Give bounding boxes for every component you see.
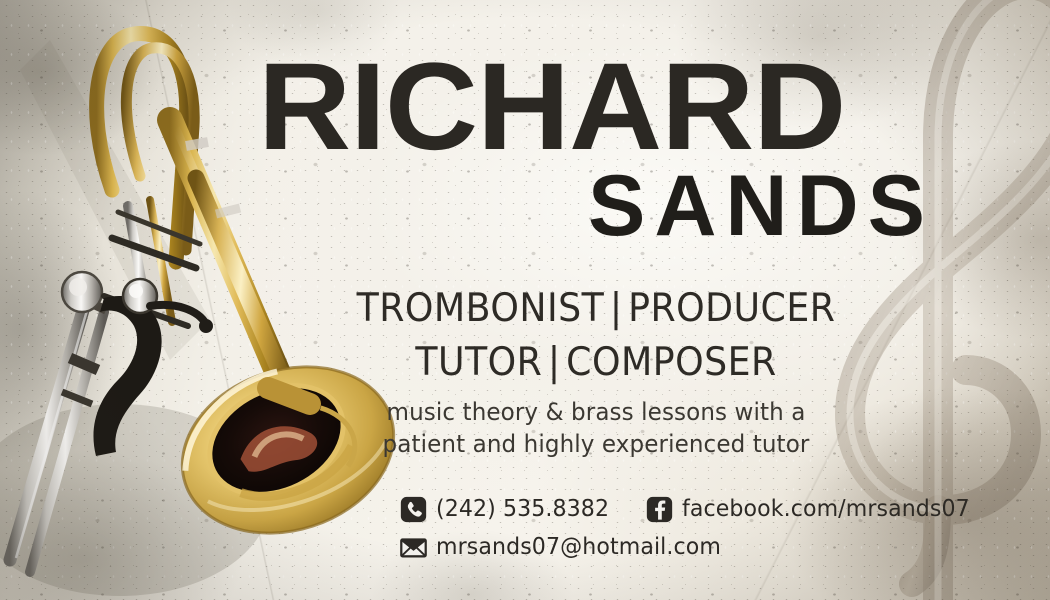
business-card: RICHARD SANDS TROMBONIST|PRODUCER TUTOR|… — [0, 0, 1050, 600]
vignette-overlay — [0, 0, 1050, 600]
